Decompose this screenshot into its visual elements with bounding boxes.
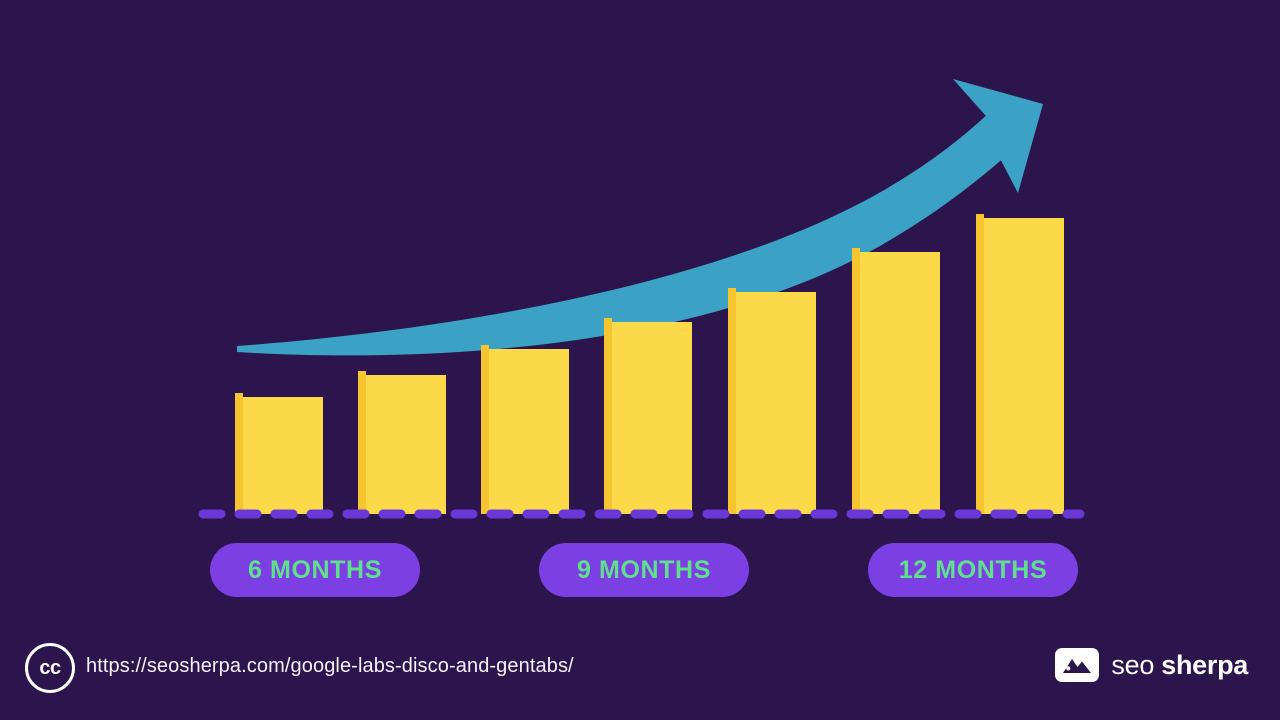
timeline-pills: 6 MONTHS 9 MONTHS 12 MONTHS — [0, 543, 1280, 599]
bar-chart — [0, 0, 1280, 720]
brand-logo: seo sherpa — [1055, 648, 1248, 682]
pill-9-months[interactable]: 9 MONTHS — [539, 543, 749, 597]
bar-2 — [366, 375, 446, 514]
pill-12-months[interactable]: 12 MONTHS — [868, 543, 1078, 597]
bar-6 — [860, 252, 940, 514]
bar-7 — [984, 218, 1064, 514]
bar-edge — [481, 345, 489, 514]
bars-group — [235, 214, 1064, 514]
bar-edge — [728, 288, 736, 514]
chart-canvas — [0, 0, 1280, 720]
bar-3 — [489, 349, 569, 514]
creative-commons-icon: cc — [25, 643, 75, 693]
bar-5 — [736, 292, 816, 514]
bar-1 — [243, 397, 323, 514]
brand-name-first: seo — [1111, 650, 1154, 680]
mountain-glyph — [1062, 655, 1092, 675]
bar-4 — [612, 322, 692, 514]
bar-edge — [604, 318, 612, 514]
bar-edge — [852, 248, 860, 514]
pill-label: 6 MONTHS — [248, 556, 382, 585]
source-url[interactable]: https://seosherpa.com/google-labs-disco-… — [86, 655, 574, 678]
footer: cc https://seosherpa.com/google-labs-dis… — [0, 634, 1280, 720]
pill-label: 12 MONTHS — [899, 556, 1047, 585]
bar-edge — [358, 371, 366, 514]
pill-label: 9 MONTHS — [577, 556, 711, 585]
cc-label: cc — [39, 658, 60, 678]
bar-edge — [976, 214, 984, 514]
brand-name: seo sherpa — [1111, 650, 1248, 681]
mountain-icon — [1055, 648, 1099, 682]
growth-infographic: 6 MONTHS 9 MONTHS 12 MONTHS cc https://s… — [0, 0, 1280, 720]
brand-name-second: sherpa — [1161, 650, 1248, 680]
bar-edge — [235, 393, 243, 514]
pill-6-months[interactable]: 6 MONTHS — [210, 543, 420, 597]
